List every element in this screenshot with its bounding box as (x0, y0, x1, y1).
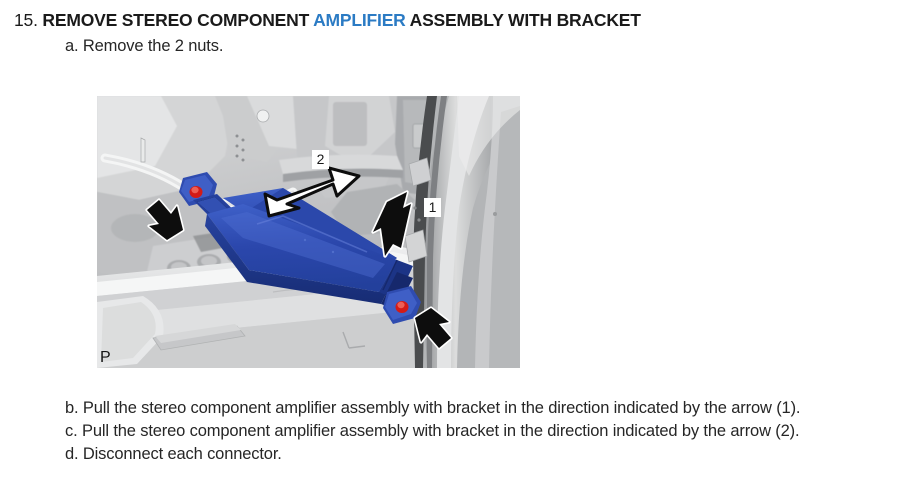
substep-d: d. Disconnect each connector. (65, 444, 282, 465)
callout-label-1: 1 (424, 198, 441, 217)
substep-b: b. Pull the stereo component amplifier a… (65, 398, 800, 419)
step-title-highlight: AMPLIFIER (313, 10, 406, 30)
figure-photo (97, 96, 520, 368)
step-number: 15. (14, 10, 38, 30)
figure-letter: P (100, 350, 111, 366)
substep-c: c. Pull the stereo component amplifier a… (65, 421, 799, 442)
substep-a: a. Remove the 2 nuts. (65, 36, 223, 57)
step-title-before: REMOVE STEREO COMPONENT (42, 10, 313, 30)
figure-stereo-amplifier: 2 1 P (97, 96, 520, 368)
callout-label-2: 2 (312, 150, 329, 169)
step-title-after: ASSEMBLY WITH BRACKET (406, 10, 641, 30)
page-title: 15. REMOVE STEREO COMPONENT AMPLIFIER AS… (14, 9, 641, 31)
